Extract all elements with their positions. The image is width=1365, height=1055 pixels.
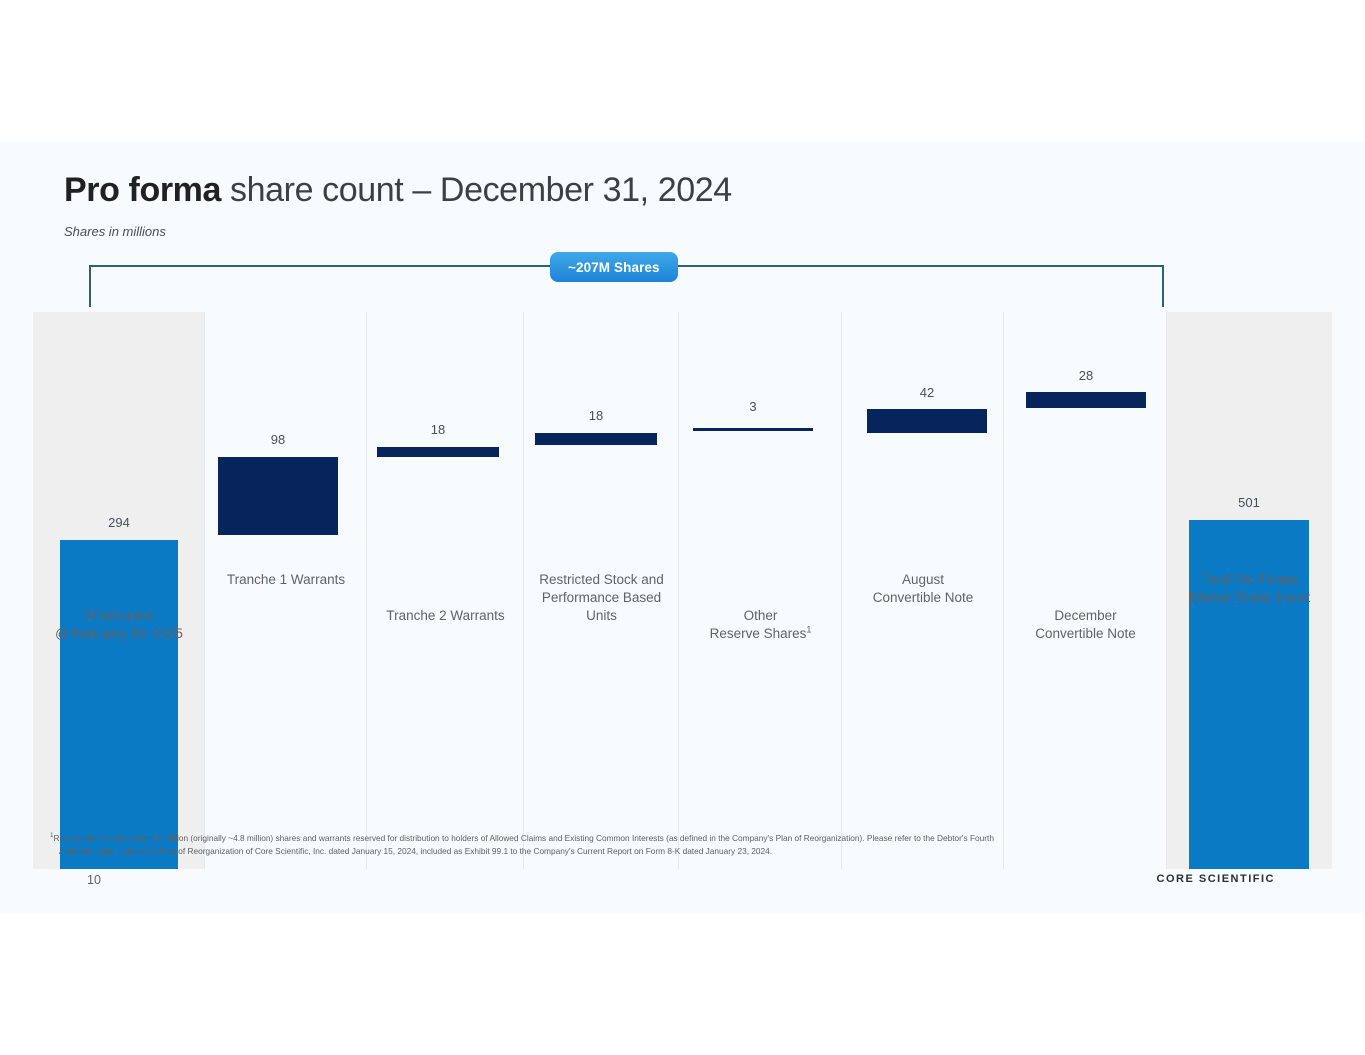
shares-callout-badge: ~207M Shares bbox=[550, 252, 678, 282]
bar-restricted-stock-units bbox=[535, 433, 657, 445]
category-label-august-convertible-note: AugustConvertible Note bbox=[830, 571, 1016, 607]
footnote: 1Represents the remaining 3.3 million (o… bbox=[50, 832, 1320, 857]
category-label-restricted-stock-units: Restricted Stock andPerformance BasedUni… bbox=[512, 571, 691, 625]
bar-value-restricted-stock-units: 18 bbox=[535, 408, 657, 423]
footnote-line-2: Amended Joint Chapter 11 Plan of Reorgan… bbox=[50, 845, 1320, 858]
category-label-sharecount: Sharecount@ February 20, 2025 bbox=[21, 607, 217, 643]
category-label-line: Performance Based bbox=[542, 590, 661, 605]
bar-value-tranche-2-warrants: 18 bbox=[377, 422, 499, 437]
category-label-line: Units bbox=[586, 608, 617, 623]
category-label-superscript: 1 bbox=[806, 625, 811, 635]
bar-august-convertible-note bbox=[867, 409, 987, 433]
category-label-line: Tranche 2 Warrants bbox=[386, 608, 504, 623]
category-label-line: Diluted Share Count bbox=[1189, 590, 1311, 605]
company-logo: CORE SCIENTIFIC bbox=[1157, 873, 1275, 885]
chart-column-tranche-1-warrants bbox=[205, 312, 367, 869]
bar-value-tranche-1-warrants: 98 bbox=[218, 432, 338, 447]
category-label-total-pro-forma-diluted-share-count: Total Pro FormaDiluted Share Count bbox=[1155, 571, 1344, 607]
page-title-regular: share count – December 31, 2024 bbox=[221, 171, 732, 209]
page-title-bold: Pro forma bbox=[64, 171, 221, 209]
category-label-line: Total Pro Forma bbox=[1201, 572, 1297, 587]
category-label-line: Restricted Stock and bbox=[539, 572, 664, 587]
bar-other-reserve-shares bbox=[693, 428, 813, 431]
chart-column-tranche-2-warrants bbox=[367, 312, 524, 869]
category-label-line: August bbox=[902, 572, 944, 587]
category-label-line: Tranche 1 Warrants bbox=[227, 572, 345, 587]
chart-column-other-reserve-shares bbox=[679, 312, 842, 869]
bar-sharecount bbox=[60, 540, 178, 869]
page-number: 10 bbox=[87, 873, 101, 887]
category-label-line: @ February 20, 2025 bbox=[55, 626, 183, 641]
bar-value-december-convertible-note: 28 bbox=[1026, 368, 1146, 383]
slide-canvas: Pro forma share count – December 31, 202… bbox=[0, 142, 1365, 913]
bar-tranche-1-warrants bbox=[218, 457, 338, 535]
footnote-line-1: Represents the remaining 3.3 million (or… bbox=[53, 833, 993, 843]
page-title: Pro forma share count – December 31, 202… bbox=[64, 171, 732, 210]
bracket-right-tick bbox=[1162, 265, 1164, 307]
category-label-december-convertible-note: DecemberConvertible Note bbox=[992, 607, 1179, 643]
category-label-line: Sharecount bbox=[84, 608, 153, 623]
category-label-tranche-2-warrants: Tranche 2 Warrants bbox=[355, 607, 536, 625]
bar-value-sharecount: 294 bbox=[60, 515, 178, 530]
bar-december-convertible-note bbox=[1026, 392, 1146, 408]
bar-tranche-2-warrants bbox=[377, 447, 499, 457]
category-label-line: December bbox=[1054, 608, 1116, 623]
category-label-line: Convertible Note bbox=[1035, 626, 1136, 641]
category-label-line: Convertible Note bbox=[873, 590, 974, 605]
bracket-left-tick bbox=[89, 265, 91, 307]
category-label-line: Other bbox=[744, 608, 778, 623]
category-label-tranche-1-warrants: Tranche 1 Warrants bbox=[193, 571, 379, 589]
category-label-other-reserve-shares: OtherReserve Shares1 bbox=[667, 607, 854, 643]
bar-value-total-pro-forma-diluted-share-count: 501 bbox=[1189, 495, 1309, 510]
bar-value-other-reserve-shares: 3 bbox=[693, 399, 813, 414]
bar-value-august-convertible-note: 42 bbox=[867, 385, 987, 400]
page-subtitle: Shares in millions bbox=[64, 224, 166, 239]
category-label-line: Reserve Shares bbox=[710, 626, 807, 641]
